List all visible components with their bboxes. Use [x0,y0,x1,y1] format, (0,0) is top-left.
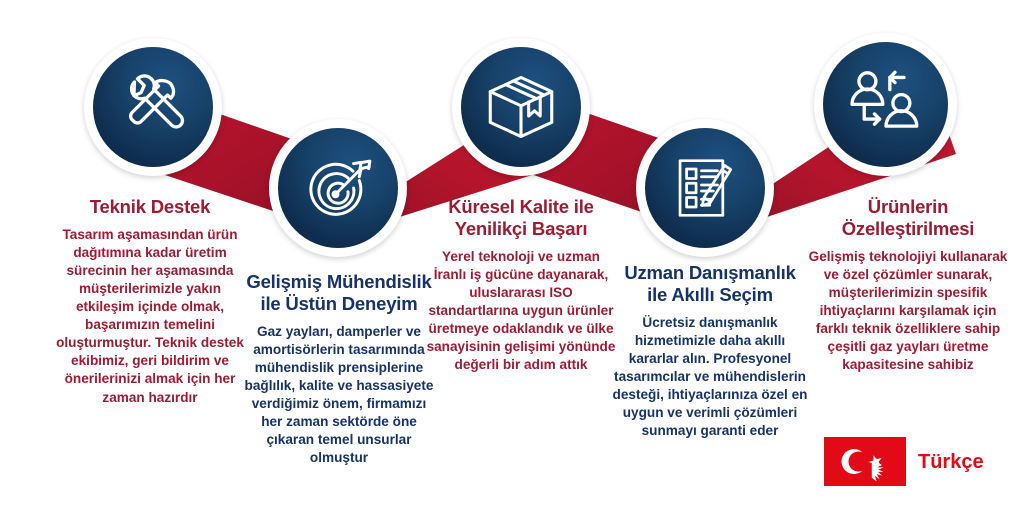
turkish-flag-icon [824,437,906,486]
step-text-2: Gelişmiş Mühendislik ile Üstün Deneyim G… [243,271,435,467]
step-circle-4[interactable] [636,119,774,257]
step-disc-4 [645,128,765,248]
step-body-4: Ücretsiz danışmanlık hizmetimizle daha a… [612,314,808,441]
step-disc-5 [823,42,948,167]
step-body-3: Yerel teknoloji ve uzman İranlı iş gücün… [424,248,618,375]
infographic-root: Teknik Destek Tasarım aşamasından ürün d… [0,0,1024,525]
language-label: Türkçe [918,452,984,472]
step-body-1: Tasarım aşamasından ürün dağıtımına kada… [52,226,248,407]
wrench-hammer-icon [112,66,194,148]
step-title-4: Uzman Danışmanlık ile Akıllı Seçim [612,262,808,306]
package-box-icon [480,66,562,148]
step-text-5: Ürünlerin Özelleştirilmesi Gelişmiş tekn… [806,196,1010,374]
step-circle-2[interactable] [269,119,407,257]
step-text-3: Küresel Kalite ile Yenilikçi Başarı Yere… [424,196,618,374]
step-disc-2 [278,128,398,248]
step-circle-1[interactable] [84,38,222,176]
step-title-1: Teknik Destek [52,196,248,218]
language-badge[interactable]: Türkçe [824,437,984,486]
step-text-4: Uzman Danışmanlık ile Akıllı Seçim Ücret… [612,262,808,440]
step-title-2: Gelişmiş Mühendislik ile Üstün Deneyim [243,271,435,315]
step-disc-1 [93,47,213,167]
step-body-2: Gaz yayları, damperler ve amortisörlerin… [243,323,435,468]
step-disc-3 [461,47,581,167]
target-arrow-icon [298,148,378,228]
step-title-3: Küresel Kalite ile Yenilikçi Başarı [424,196,618,240]
step-circle-3[interactable] [452,38,590,176]
step-title-5: Ürünlerin Özelleştirilmesi [806,196,1010,240]
step-text-1: Teknik Destek Tasarım aşamasından ürün d… [52,196,248,407]
step-circle-5[interactable] [814,33,957,176]
people-exchange-icon [845,64,927,146]
step-body-5: Gelişmiş teknolojiyi kullanarak ve özel … [806,248,1010,375]
checklist-pen-icon [667,150,743,226]
